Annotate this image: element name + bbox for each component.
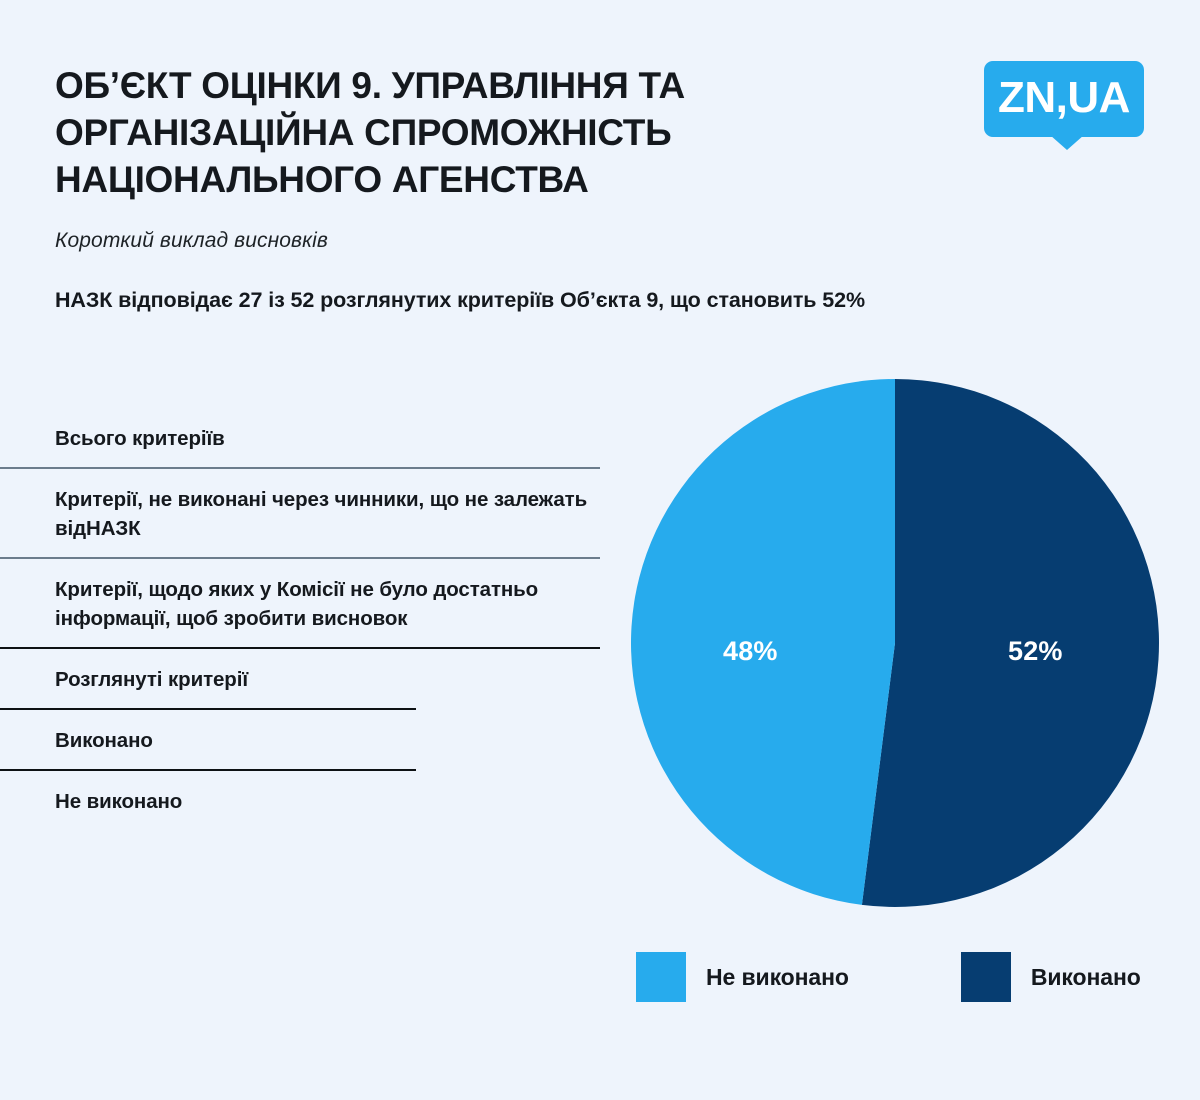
row-divider xyxy=(0,708,416,710)
pie-slice-label-vykonano: 52% xyxy=(1008,636,1063,667)
criteria-label: Розглянуті критерії xyxy=(0,665,620,694)
list-item: Виконано xyxy=(0,726,620,771)
chart-legend: Не виконано Виконано xyxy=(636,952,1141,1002)
logo-text: ZN,UA xyxy=(998,76,1130,122)
list-item: Всього критеріїв xyxy=(0,424,620,469)
legend-item-ne-vykonano: Не виконано xyxy=(636,952,849,1002)
pie-chart: 48% 52% xyxy=(630,378,1160,908)
list-item: Критерії, не виконані через чинники, що … xyxy=(0,485,620,559)
row-divider xyxy=(0,557,600,559)
row-divider xyxy=(0,467,600,469)
legend-swatch-ne-vykonano xyxy=(636,952,686,1002)
list-item: Розглянуті критерії xyxy=(0,665,620,710)
zn-ua-logo: ZN,UA xyxy=(984,61,1144,137)
criteria-label: Не виконано xyxy=(0,787,620,816)
legend-label-ne-vykonano: Не виконано xyxy=(706,964,849,991)
summary-text: НАЗК відповідає 27 із 52 розглянутих кри… xyxy=(55,288,1165,313)
pie-chart-svg xyxy=(630,378,1160,908)
page-title: ОБ’ЄКТ ОЦІНКИ 9. УПРАВЛІННЯ ТА ОРГАНІЗАЦ… xyxy=(55,62,815,203)
pie-slice-label-ne-vykonano: 48% xyxy=(723,636,778,667)
criteria-label: Всього критеріїв xyxy=(0,424,620,453)
page-subtitle: Короткий виклад висновків xyxy=(55,229,815,253)
header: ОБ’ЄКТ ОЦІНКИ 9. УПРАВЛІННЯ ТА ОРГАНІЗАЦ… xyxy=(55,62,815,253)
list-item: Критерії, щодо яких у Комісії не було до… xyxy=(0,575,620,649)
row-divider xyxy=(0,769,416,771)
criteria-label: Виконано xyxy=(0,726,620,755)
legend-item-vykonano: Виконано xyxy=(961,952,1141,1002)
criteria-label: Критерії, не виконані через чинники, що … xyxy=(0,485,620,543)
logo-tail-icon xyxy=(1050,135,1084,150)
list-item: Не виконано xyxy=(0,787,620,816)
logo-bubble-icon: ZN,UA xyxy=(984,61,1144,137)
legend-swatch-vykonano xyxy=(961,952,1011,1002)
criteria-label: Критерії, щодо яких у Комісії не було до… xyxy=(0,575,620,633)
legend-label-vykonano: Виконано xyxy=(1031,964,1141,991)
row-divider xyxy=(0,647,600,649)
criteria-list: Всього критеріїв Критерії, не виконані ч… xyxy=(0,424,620,816)
